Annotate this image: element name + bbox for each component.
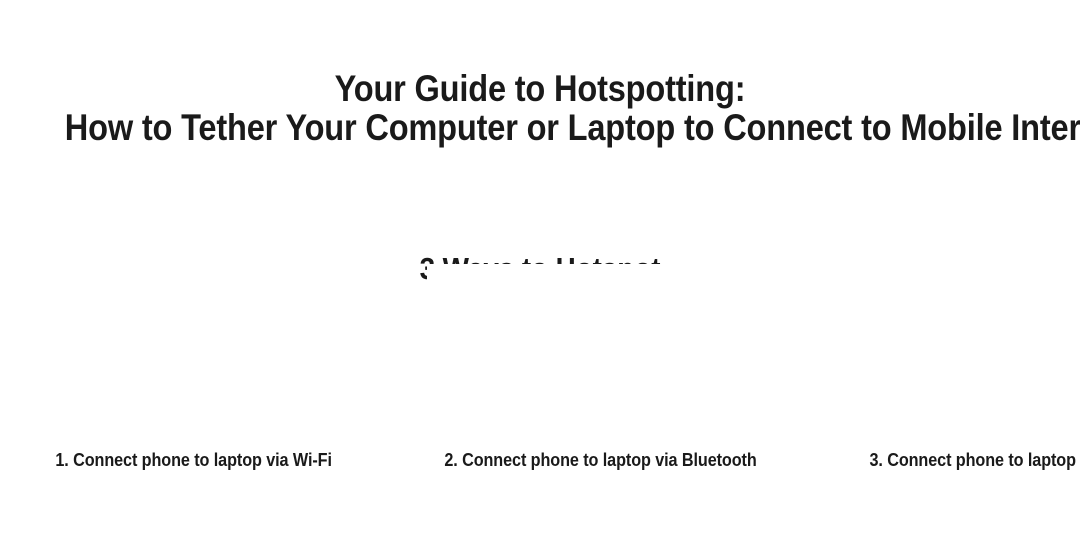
article-page: Your Guide to Hotspotting: How to Tether… — [0, 0, 1080, 552]
figure-cable: 3. Connect phone to laptop via cable — [854, 264, 1080, 504]
figure-image-bluetooth — [427, 264, 774, 448]
figure-bluetooth: 2. Connect phone to laptop via Bluetooth — [427, 264, 774, 504]
page-title-line-2: How to Tether Your Computer or Laptop to… — [65, 108, 1015, 147]
figure-caption-wifi: 1. Connect phone to laptop via Wi-Fi — [55, 448, 332, 504]
page-title: Your Guide to Hotspotting: How to Tether… — [65, 69, 1015, 147]
figure-image-cable — [854, 264, 1080, 448]
figure-image-wifi — [40, 264, 347, 448]
page-title-line-1: Your Guide to Hotspotting: — [65, 69, 1015, 108]
figure-gallery: 1. Connect phone to laptop via Wi-Fi 2. … — [0, 280, 1080, 520]
figure-caption-bluetooth: 2. Connect phone to laptop via Bluetooth — [445, 448, 757, 504]
figure-caption-cable: 3. Connect phone to laptop via cable — [870, 448, 1080, 504]
figure-wifi: 1. Connect phone to laptop via Wi-Fi — [40, 264, 347, 504]
